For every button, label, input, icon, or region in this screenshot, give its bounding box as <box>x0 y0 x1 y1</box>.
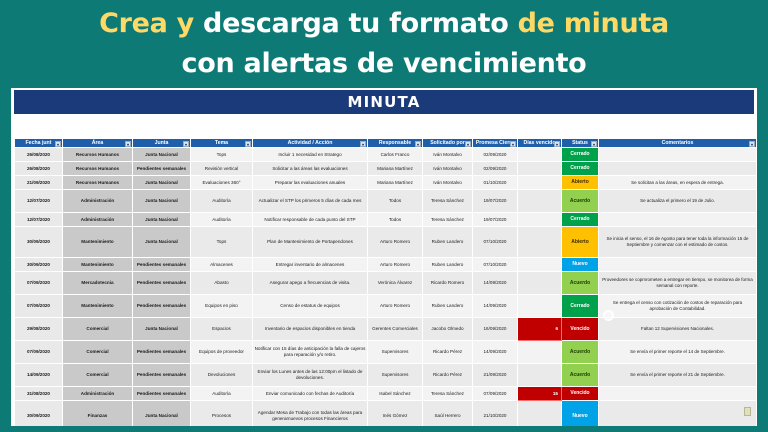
cell-junta[interactable]: Pendientes semanales <box>133 364 191 387</box>
filter-dropdown-icon[interactable]: ▾ <box>55 141 61 147</box>
col-header-junta-label: Junta <box>155 140 169 146</box>
cell-actividad[interactable]: Solicitar a las áreas las evaluaciones <box>253 162 368 176</box>
col-header-promesa-cierre-label: Promesa Cierre <box>476 140 514 146</box>
col-header-responsable-label: Responsable <box>379 140 411 146</box>
cell-tema[interactable]: Tops <box>191 148 253 162</box>
cell-status[interactable]: Vencido <box>562 318 599 341</box>
cell-fecha[interactable]: 12/07/2020 <box>15 213 63 227</box>
filter-dropdown-icon[interactable]: ▾ <box>510 141 516 147</box>
cell-comentarios[interactable]: Se actualiza el primero el 19 de Julio. <box>599 190 757 213</box>
cell-status[interactable]: Nuevo <box>562 258 599 272</box>
col-header-promesa-cierre[interactable]: Promesa Cierre▾ <box>473 139 518 148</box>
cell-promesa-cierre[interactable]: 07/09/2020 <box>473 387 518 401</box>
cell-status[interactable]: Acuerdo <box>562 190 599 213</box>
status-badge: Acuerdo <box>562 190 598 212</box>
cell-promesa-cierre[interactable]: 01/10/2020 <box>473 176 518 190</box>
cell-solicitado-por[interactable]: Ruben Landero <box>423 295 473 318</box>
cell-status[interactable]: Cerrado <box>562 148 599 162</box>
table-row[interactable]: 21/09/2020Recursos HumanosJunta Nacional… <box>15 176 757 190</box>
cell-actividad[interactable]: Plan de Mantenimiento de Portapendones <box>253 227 368 258</box>
cell-fecha[interactable]: 30/09/2020 <box>15 258 63 272</box>
cell-fecha[interactable]: 31/08/2020 <box>15 387 63 401</box>
filter-dropdown-icon[interactable]: ▾ <box>125 141 131 147</box>
col-header-status[interactable]: Status▾ <box>562 139 599 148</box>
filter-dropdown-icon[interactable]: ▾ <box>749 141 755 147</box>
table-row[interactable]: 07/09/2020ComercialPendientes semanalesE… <box>15 341 757 364</box>
cell-dias-vencido[interactable]: 6 <box>518 318 562 341</box>
table-row[interactable]: 30/09/2020MantenimientoPendientes semana… <box>15 258 757 272</box>
cell-promesa-cierre[interactable]: 19/07/2020 <box>473 213 518 227</box>
cell-area[interactable]: Mercadotecnia <box>63 272 133 295</box>
col-header-actividad-label: Actividad / Acción <box>288 140 333 146</box>
table-row[interactable]: 26/08/2020Recursos HumanosJunta Nacional… <box>15 148 757 162</box>
col-header-actividad[interactable]: Actividad / Acción▾ <box>253 139 368 148</box>
cell-junta[interactable]: Pendientes semanales <box>133 258 191 272</box>
cell-dias-vencido[interactable] <box>518 190 562 213</box>
cell-junta[interactable]: Pendientes semanales <box>133 162 191 176</box>
cell-dias-vencido[interactable] <box>518 148 562 162</box>
cell-junta[interactable]: Junta Nacional <box>133 318 191 341</box>
cell-comentarios[interactable]: Proveedores se copmrometen a entregar en… <box>599 272 757 295</box>
cell-promesa-cierre[interactable]: 16/09/2020 <box>473 318 518 341</box>
table-row[interactable]: 30/09/2020MantenimientoJunta NacionalTop… <box>15 227 757 258</box>
cell-dias-vencido[interactable] <box>518 213 562 227</box>
cell-actividad[interactable]: Actualizar el STP los primeros 5 días de… <box>253 190 368 213</box>
cell-dias-vencido[interactable]: 15 <box>518 387 562 401</box>
cell-tema[interactable]: Espacios <box>191 318 253 341</box>
cell-solicitado-por[interactable]: Jacobo Olmedo <box>423 318 473 341</box>
table-row[interactable]: 14/09/2020ComercialPendientes semanalesD… <box>15 364 757 387</box>
cell-actividad[interactable]: Asegurar apego a frecuencias de visita. <box>253 272 368 295</box>
cell-responsable[interactable]: Mariana Martínez <box>368 162 423 176</box>
table-row[interactable]: 07/09/2020MercadotecniaPendientes semana… <box>15 272 757 295</box>
table-row[interactable]: 26/08/2020Recursos HumanosPendientes sem… <box>15 162 757 176</box>
cell-fecha[interactable]: 07/09/2020 <box>15 272 63 295</box>
cell-dias-vencido[interactable] <box>518 176 562 190</box>
cell-area[interactable]: Administración <box>63 213 133 227</box>
cell-promesa-cierre[interactable]: 14/09/2020 <box>473 341 518 364</box>
cell-status[interactable]: Acuerdo <box>562 364 599 387</box>
cell-status[interactable]: Acuerdo <box>562 272 599 295</box>
status-badge: Abierto <box>562 227 598 257</box>
filter-dropdown-icon[interactable]: ▾ <box>415 141 421 147</box>
cell-junta[interactable]: Junta Nacional <box>133 190 191 213</box>
cell-area[interactable]: Mantenimiento <box>63 295 133 318</box>
cell-solicitado-por[interactable]: Ricardo Romero <box>423 272 473 295</box>
cell-junta[interactable]: Junta Nacional <box>133 148 191 162</box>
cell-area[interactable]: Comercial <box>63 318 133 341</box>
col-header-area-label: Área <box>92 140 104 146</box>
filter-dropdown-icon[interactable]: ▾ <box>591 141 597 147</box>
cell-tema[interactable]: Auditoría <box>191 190 253 213</box>
cell-comentarios[interactable]: Se entrega el censo con cotización de co… <box>599 295 757 318</box>
cell-solicitado-por[interactable]: Teresa Sánchez <box>423 213 473 227</box>
cell-tema[interactable]: Revisión vertical <box>191 162 253 176</box>
cell-responsable[interactable]: Todos <box>368 190 423 213</box>
cell-actividad[interactable]: Notificar con 15 días de anticipación la… <box>253 341 368 364</box>
cell-dias-vencido[interactable] <box>518 258 562 272</box>
cell-dias-vencido[interactable] <box>518 272 562 295</box>
cell-solicitado-por[interactable]: Teresa Sánchez <box>423 387 473 401</box>
col-header-tema[interactable]: Tema▾ <box>191 139 253 148</box>
cell-solicitado-por[interactable]: Ruben Landero <box>423 258 473 272</box>
minuta-table: Fecha junt▾ Área▾ Junta▾ Tema▾ Actividad… <box>14 138 757 432</box>
cell-solicitado-por[interactable]: Teresa Sánchez <box>423 190 473 213</box>
cell-comentarios[interactable] <box>599 148 757 162</box>
cell-junta[interactable]: Pendientes semanales <box>133 272 191 295</box>
table-row[interactable]: 29/08/2020ComercialJunta NacionalEspacio… <box>15 318 757 341</box>
col-header-junta[interactable]: Junta▾ <box>133 139 191 148</box>
spreadsheet-area: MINUTA Fecha junt▾ Área▾ Junta▾ Tema▾ Ac… <box>8 88 760 426</box>
cell-fecha[interactable]: 07/09/2020 <box>15 341 63 364</box>
cell-comentarios[interactable]: Se envía el primer reporte el 21 de Sept… <box>599 364 757 387</box>
col-header-fecha-label: Fecha junt <box>26 140 52 146</box>
cell-tema[interactable]: Devoluciones <box>191 364 253 387</box>
table-row[interactable]: 07/09/2020MantenimientoPendientes semana… <box>15 295 757 318</box>
filter-dropdown-icon[interactable]: ▾ <box>554 141 560 147</box>
cell-area[interactable]: Administración <box>63 190 133 213</box>
sheet-title-bar: MINUTA <box>14 90 754 114</box>
table-header-row: Fecha junt▾ Área▾ Junta▾ Tema▾ Actividad… <box>15 139 757 148</box>
cell-status[interactable]: Acuerdo <box>562 341 599 364</box>
status-badge: Cerrado <box>562 213 598 226</box>
cell-fecha[interactable]: 29/08/2020 <box>15 318 63 341</box>
status-badge: Cerrado <box>562 162 598 175</box>
col-header-responsable[interactable]: Responsable▾ <box>368 139 423 148</box>
sheet-blank-row <box>11 114 757 138</box>
status-badge: Acuerdo <box>562 364 598 386</box>
status-badge: Acuerdo <box>562 272 598 294</box>
cell-tema[interactable]: Auditoría <box>191 387 253 401</box>
filter-dropdown-icon[interactable]: ▾ <box>183 141 189 147</box>
cell-dias-vencido[interactable] <box>518 341 562 364</box>
cell-area[interactable]: Comercial <box>63 364 133 387</box>
cell-comentarios[interactable]: Faltan 12 Supervisiones Nacionales. <box>599 318 757 341</box>
col-header-solicitado-por[interactable]: Solicitado por▾ <box>423 139 473 148</box>
col-header-status-label: Status <box>572 140 588 146</box>
cell-status[interactable]: Abierto <box>562 227 599 258</box>
cell-dias-vencido[interactable] <box>518 227 562 258</box>
status-badge: Cerrado <box>562 295 598 317</box>
cell-status[interactable]: Cerrado <box>562 213 599 227</box>
cell-responsable[interactable]: Supervisores <box>368 364 423 387</box>
sheet-title: MINUTA <box>347 93 420 111</box>
cell-actividad[interactable]: Preparar las evaluaciones anuales <box>253 176 368 190</box>
cell-junta[interactable]: Pendientes semanales <box>133 387 191 401</box>
cell-fecha[interactable]: 14/09/2020 <box>15 364 63 387</box>
cell-responsable[interactable]: Supervisores <box>368 341 423 364</box>
cell-status[interactable]: Cerrado <box>562 295 599 318</box>
cell-comentarios[interactable] <box>599 162 757 176</box>
cell-comentarios[interactable] <box>599 213 757 227</box>
col-header-fecha[interactable]: Fecha junt▾ <box>15 139 63 148</box>
cell-junta[interactable]: Junta Nacional <box>133 213 191 227</box>
cell-responsable[interactable]: Arturo Romero <box>368 295 423 318</box>
cell-comentarios[interactable]: Se inicia el senso, el 16 de Agosto para… <box>599 227 757 258</box>
table-row[interactable]: 31/08/2020AdministraciónPendientes seman… <box>15 387 757 401</box>
banner-headline-line2: con alertas de vencimiento <box>0 44 768 84</box>
cell-junta[interactable]: Pendientes semanales <box>133 341 191 364</box>
cell-promesa-cierre[interactable]: 07/10/2020 <box>473 258 518 272</box>
sheet-tab-scroll-handle[interactable] <box>744 407 751 416</box>
status-badge: Vencido <box>562 318 598 340</box>
table-body: 26/08/2020Recursos HumanosJunta Nacional… <box>15 148 757 432</box>
status-badge: Abierto <box>562 176 598 189</box>
cell-junta[interactable]: Junta Nacional <box>133 227 191 258</box>
table-row[interactable]: 12/07/2020AdministraciónJunta NacionalAu… <box>15 213 757 227</box>
cell-junta[interactable]: Junta Nacional <box>133 176 191 190</box>
cell-status[interactable]: Abierto <box>562 176 599 190</box>
cell-dias-vencido[interactable] <box>518 364 562 387</box>
cell-actividad[interactable]: Censo de estatus de equipos <box>253 295 368 318</box>
cell-actividad[interactable]: Entregar inventario de almacenes <box>253 258 368 272</box>
cell-actividad[interactable]: Enviar comunicado con fechas de Auditorí… <box>253 387 368 401</box>
cell-solicitado-por[interactable]: Iván Montalvo <box>423 176 473 190</box>
cell-responsable[interactable]: Mariana Martínez <box>368 176 423 190</box>
col-header-area[interactable]: Área▾ <box>63 139 133 148</box>
cell-solicitado-por[interactable]: Ricardo Pérez <box>423 341 473 364</box>
cell-area[interactable]: Mantenimiento <box>63 258 133 272</box>
cell-promesa-cierre[interactable]: 02/09/2020 <box>473 162 518 176</box>
col-header-solicitado-por-label: Solicitado por <box>430 140 465 146</box>
cell-solicitado-por[interactable]: Iván Montalvo <box>423 148 473 162</box>
promo-banner: Crea y descarga tu formato de minuta con… <box>0 0 768 88</box>
cell-tema[interactable]: Abasto <box>191 272 253 295</box>
banner-headline-line1: Crea y descarga tu formato de minuta <box>0 4 768 44</box>
cell-fecha[interactable]: 26/08/2020 <box>15 148 63 162</box>
bottom-accent-strip <box>0 426 768 432</box>
cell-responsable[interactable]: Arturo Romero <box>368 227 423 258</box>
cell-promesa-cierre[interactable]: 19/07/2020 <box>473 190 518 213</box>
cell-dias-vencido[interactable] <box>518 295 562 318</box>
cell-responsable[interactable]: Isabel Sánchez <box>368 387 423 401</box>
col-header-dias-vencido[interactable]: Días vencido▾ <box>518 139 562 148</box>
cell-responsable[interactable]: Gerentes Comerciales <box>368 318 423 341</box>
banner-word-crea-y: Crea y <box>99 8 203 39</box>
cell-solicitado-por[interactable]: Ricardo Pérez <box>423 364 473 387</box>
cell-promesa-cierre[interactable]: 14/09/2020 <box>473 295 518 318</box>
filter-dropdown-icon[interactable]: ▾ <box>465 141 471 147</box>
status-badge: Nuevo <box>562 258 598 271</box>
cell-area[interactable]: Comercial <box>63 341 133 364</box>
status-badge: Cerrado <box>562 148 598 161</box>
cell-fecha[interactable]: 12/07/2020 <box>15 190 63 213</box>
cell-fecha[interactable]: 26/08/2020 <box>15 162 63 176</box>
filter-dropdown-icon[interactable]: ▾ <box>360 141 366 147</box>
cell-actividad[interactable]: Notificar responsable de cada punto del … <box>253 213 368 227</box>
cell-actividad[interactable]: Incluir 1 necesidad en Stratego <box>253 148 368 162</box>
cell-responsable[interactable]: Todos <box>368 213 423 227</box>
cell-dias-vencido[interactable] <box>518 162 562 176</box>
banner-word-descarga-tu-formato: descarga tu formato <box>203 8 518 39</box>
col-header-tema-label: Tema <box>215 140 228 146</box>
cell-tema[interactable]: Almacenes <box>191 258 253 272</box>
cell-status[interactable]: Cerrado <box>562 162 599 176</box>
cell-area[interactable]: Mantenimiento <box>63 227 133 258</box>
cell-comentarios[interactable]: Se envía el primer reporte el 14 de Sept… <box>599 341 757 364</box>
cell-area[interactable]: Administración <box>63 387 133 401</box>
cell-responsable[interactable]: Arturo Romero <box>368 258 423 272</box>
table-row[interactable]: 12/07/2020AdministraciónJunta NacionalAu… <box>15 190 757 213</box>
cell-tema[interactable]: Tops <box>191 227 253 258</box>
status-badge: Acuerdo <box>562 341 598 363</box>
cell-fecha[interactable]: 07/09/2020 <box>15 295 63 318</box>
cell-promesa-cierre[interactable]: 02/09/2020 <box>473 148 518 162</box>
cell-actividad[interactable]: Inventario de espacios disponibles en ti… <box>253 318 368 341</box>
filter-dropdown-icon[interactable]: ▾ <box>245 141 251 147</box>
cell-tema[interactable]: Equipos en piso <box>191 295 253 318</box>
cell-area[interactable]: Recursos Humanos <box>63 162 133 176</box>
cell-responsable[interactable]: Carlos Franco <box>368 148 423 162</box>
col-header-comentarios-label: Comentarios <box>662 140 694 146</box>
col-header-dias-vencido-label: Días vencido <box>523 140 555 146</box>
cell-junta[interactable]: Pendientes semanales <box>133 295 191 318</box>
cell-comentarios[interactable] <box>599 387 757 401</box>
cell-tema[interactable]: Equipos de proveedor <box>191 341 253 364</box>
cell-fecha[interactable]: 21/09/2020 <box>15 176 63 190</box>
status-badge: Vencido <box>562 387 598 400</box>
cell-area[interactable]: Recursos Humanos <box>63 148 133 162</box>
cell-solicitado-por[interactable]: Ruben Landero <box>423 227 473 258</box>
cell-promesa-cierre[interactable]: 07/10/2020 <box>473 227 518 258</box>
cell-responsable[interactable]: Verónica Álvarez <box>368 272 423 295</box>
banner-word-de-minuta: de minuta <box>518 8 669 39</box>
col-header-comentarios[interactable]: Comentarios▾ <box>599 139 757 148</box>
cell-actividad[interactable]: Enviar los Lunes antes de las 12:00pm el… <box>253 364 368 387</box>
cell-status[interactable]: Vencido <box>562 387 599 401</box>
cell-area[interactable]: Recursos Humanos <box>63 176 133 190</box>
cell-tema[interactable]: Evaluaciones 360° <box>191 176 253 190</box>
cell-promesa-cierre[interactable]: 14/09/2020 <box>473 272 518 295</box>
cell-comentarios[interactable] <box>599 258 757 272</box>
cell-fecha[interactable]: 30/09/2020 <box>15 227 63 258</box>
cell-promesa-cierre[interactable]: 21/09/2020 <box>473 364 518 387</box>
cell-tema[interactable]: Auditoría <box>191 213 253 227</box>
cell-comentarios[interactable]: Se solicitan a las áreas, en espera de e… <box>599 176 757 190</box>
cell-solicitado-por[interactable]: Iván Montalvo <box>423 162 473 176</box>
